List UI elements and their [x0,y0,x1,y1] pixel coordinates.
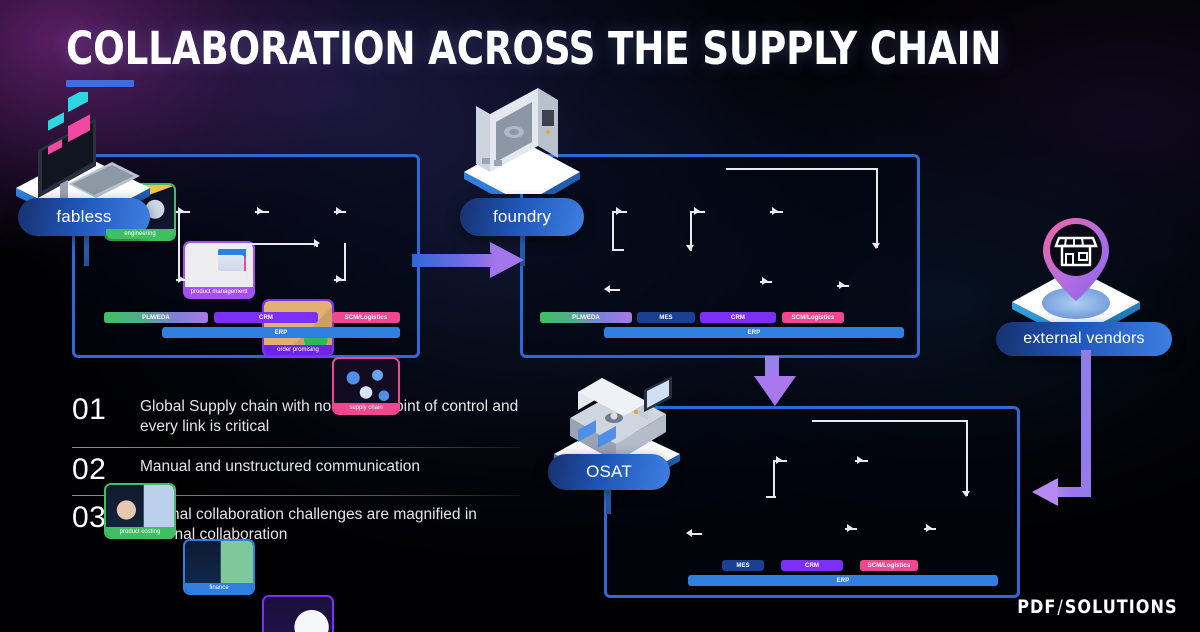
flow-arrow-tip [604,285,610,293]
flow-arrow-tip [926,524,932,532]
flow-wire [876,168,878,248]
flow-arrow-tip [847,524,853,532]
flow-arrow-tip [772,207,778,215]
pill-text: OSAT [586,462,632,482]
page-title: COLLABORATION ACROSS THE SUPPLY CHAIN [66,22,1001,75]
flow-arrow-tip [336,275,342,283]
flow-arrow-tip [314,239,320,247]
connector-foundry-to-osat [748,356,806,410]
infographic-canvas: COLLABORATION ACROSS THE SUPPLY CHAIN 01… [0,0,1200,632]
card-sales[interactable]: sales [262,595,334,632]
bar-mes: MES [637,312,695,323]
flow-arrow-tip [962,491,970,497]
logo-left: PDF [1018,596,1057,618]
flow-wire [612,211,614,251]
flow-arrow-tip [776,456,782,464]
flow-arrow-tip [178,275,184,283]
connector-external-vendors-to-osat [1024,350,1144,514]
sales-illustration [264,597,332,632]
flow-arrow-tip [686,245,694,251]
pill-text: fabless [56,207,111,227]
flow-arrow-tip [336,207,342,215]
card-supply-chain[interactable]: supply chain [332,357,400,415]
card-product-management[interactable]: product management [183,241,255,299]
logo-right: SOLUTIONS [1065,596,1178,618]
flow-wire [612,249,624,251]
desktop-computer-icon [8,92,158,208]
bar-erp: ERP [604,327,904,338]
flow-arrow-tip [839,281,845,289]
flow-wire [966,420,968,496]
fabless-pill-stem [84,232,89,266]
flow-wire [773,460,775,498]
card-label: engineering [106,229,174,239]
connector-fabless-to-foundry [412,232,532,288]
card-label: supply chain [334,403,398,413]
flow-wire [726,168,878,170]
card-label: order promising [264,345,332,355]
list-item: 01 Global Supply chain with no unique po… [72,388,520,447]
flow-arrow-tip [857,456,863,464]
bar-erp: ERP [688,575,998,586]
bar-plm-eda: PLM/EDA [104,312,208,323]
list-item-text: Manual and unstructured communication [140,454,420,477]
bar-scm-logistics: SCM/Logistics [782,312,844,323]
bar-scm-logistics: SCM/Logistics [860,560,918,571]
flow-wire [246,243,316,245]
card-label: finance [185,583,253,593]
flow-arrow-tip [686,529,692,537]
bar-crm: CRM [781,560,843,571]
flow-arrow-tip [616,207,622,215]
card-product-costing[interactable]: product costing [104,483,176,539]
list-item-number: 02 [72,454,120,486]
flow-wire [246,243,248,279]
bar-plm-eda: PLM/EDA [540,312,632,323]
card-label: product management [185,287,253,297]
list-item-number: 01 [72,394,120,426]
list-item-text: Global Supply chain with no unique point… [140,394,520,437]
flow-wire [178,211,180,279]
card-label: product costing [106,527,174,537]
flow-wire [766,496,776,498]
bar-erp: ERP [162,327,400,338]
flow-arrow-tip [762,277,768,285]
bar-mes: MES [722,560,764,571]
flow-wire [812,420,968,422]
brand-logo: PDF/SOLUTIONS [1018,596,1178,618]
node-label-osat[interactable]: OSAT [548,454,670,490]
title-underline-accent [66,80,134,87]
card-finance[interactable]: finance [183,539,255,595]
fab-equipment-icon [456,84,586,194]
pill-text: external vendors [1023,330,1145,348]
flow-arrow-tip [257,207,263,215]
flow-arrow-tip [694,207,700,215]
bar-crm: CRM [214,312,318,323]
bar-crm: CRM [700,312,776,323]
node-label-foundry[interactable]: foundry [460,198,584,236]
flow-arrow-tip [872,243,880,249]
bar-scm-logistics: SCM/Logistics [332,312,400,323]
flow-wire [344,243,346,279]
pill-text: foundry [493,207,551,227]
